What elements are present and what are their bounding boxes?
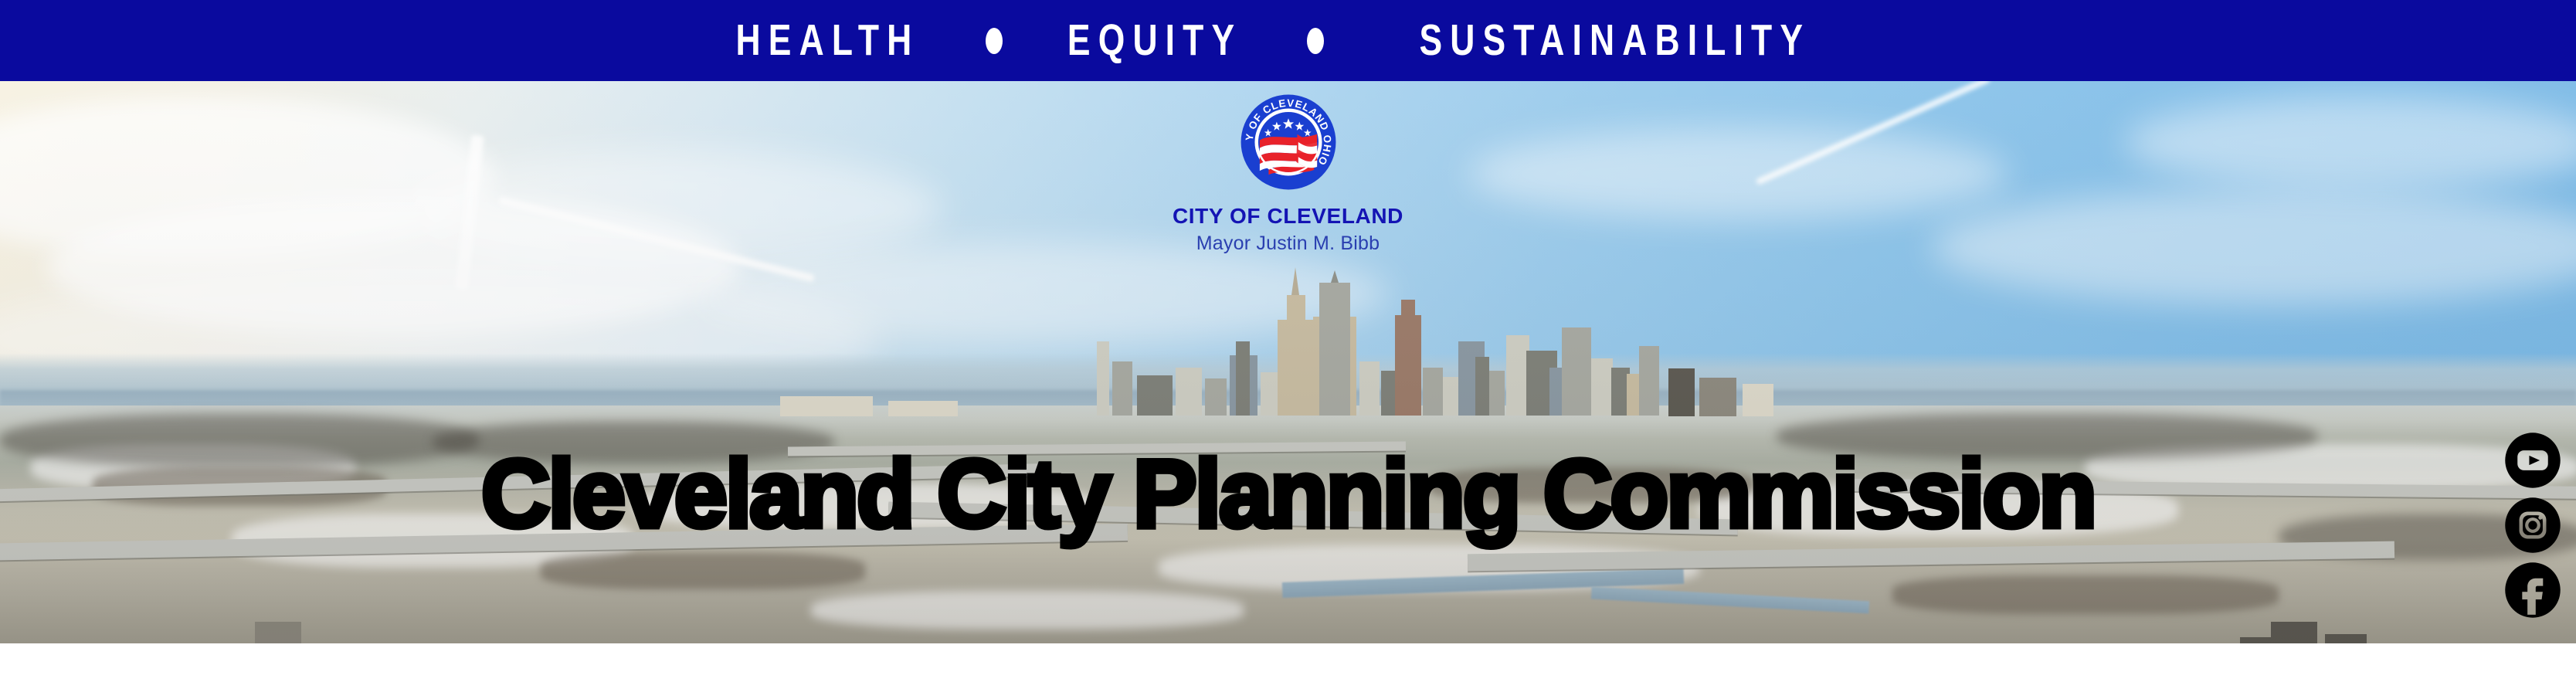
social-link-instagram[interactable] xyxy=(2503,496,2562,555)
tagline-banner: HEALTH EQUITY SUSTAINABILITY xyxy=(0,0,2576,81)
city-of-cleveland-seal-icon: CITY OF CLEVELAND OHIO xyxy=(1239,93,1338,192)
cloud-wisp xyxy=(2124,97,2576,189)
tagline-word-sustainability: SUSTAINABILITY xyxy=(1420,19,1811,63)
cloud-wisp xyxy=(1468,127,2008,220)
tagline-separator-dot-2 xyxy=(1307,28,1324,54)
city-branding: CITY OF CLEVELAND OHIO xyxy=(1088,93,1489,255)
downtown-skyline xyxy=(1089,273,1661,416)
cloud-wisp xyxy=(402,151,942,266)
social-link-facebook[interactable] xyxy=(2503,561,2562,619)
social-links xyxy=(2503,431,2562,619)
city-name-label: CITY OF CLEVELAND xyxy=(1088,204,1489,229)
tagline-word-equity: EQUITY xyxy=(1067,19,1242,63)
tagline-word-health: HEALTH xyxy=(736,19,920,63)
tagline-separator-dot-1 xyxy=(986,28,1003,54)
mayor-name-label: Mayor Justin M. Bibb xyxy=(1088,232,1489,255)
tagline-banner-inner: HEALTH EQUITY SUSTAINABILITY xyxy=(710,19,1866,63)
page-title: Cleveland City Planning Commission xyxy=(481,446,2095,542)
social-link-youtube[interactable] xyxy=(2503,431,2562,490)
